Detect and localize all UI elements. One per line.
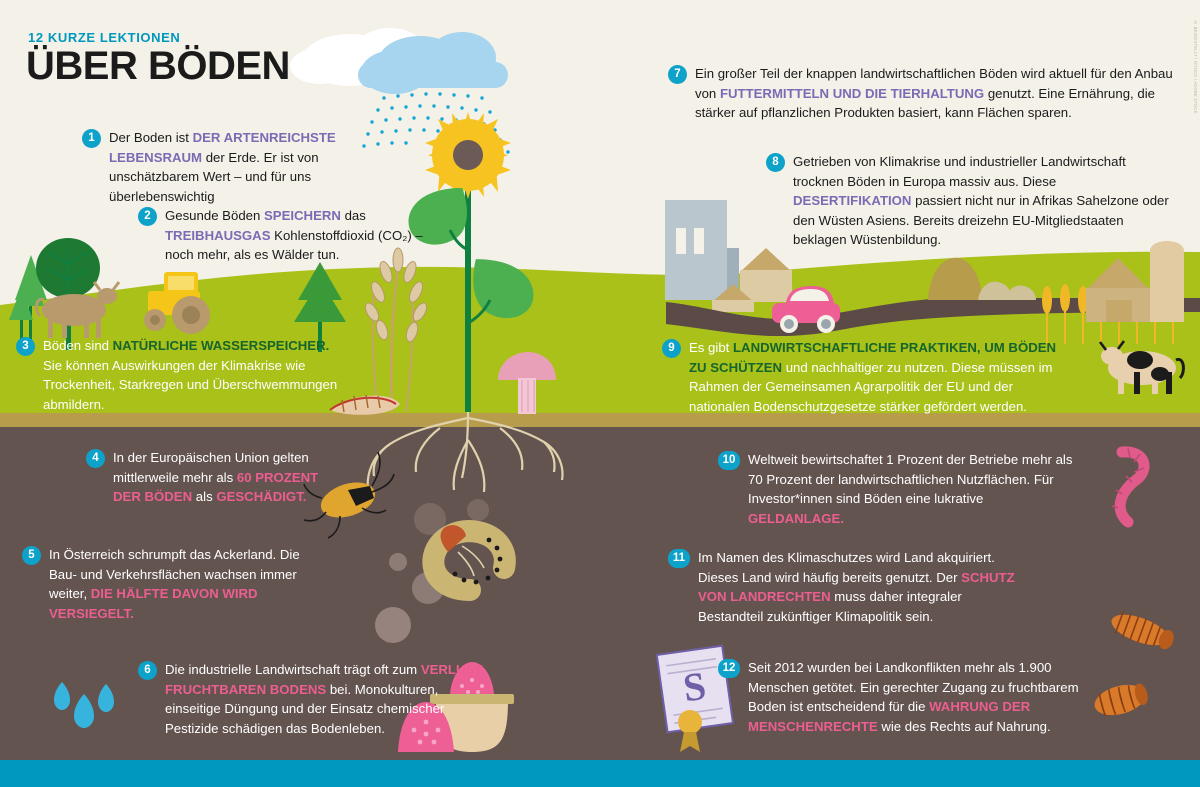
fact-text-1: Der Boden ist DER ARTENREICHSTE LEBENSRA…	[109, 128, 412, 206]
fact-number-badge-3: 3	[16, 337, 35, 356]
fact-text-3: Böden sind NATÜRLICHE WASSERSPEICHER. Si…	[43, 336, 346, 414]
fact-item-2: 2Gesunde Böden SPEICHERN das TREIBHAUSGA…	[138, 206, 428, 265]
fact-4-segment-3: GESCHÄDIGT.	[216, 489, 306, 504]
fact-item-9: 9Es gibt LANDWIRTSCHAFTLICHE PRAKTIKEN, …	[662, 338, 1074, 416]
fact-number-badge-2: 2	[138, 207, 157, 226]
fact-item-12: 12Seit 2012 wurden bei Landkonflikten me…	[718, 658, 1110, 736]
fact-1-segment-0: Der Boden ist	[109, 130, 193, 145]
fact-item-10: 10Weltweit bewirtschaftet 1 Prozent der …	[718, 450, 1078, 528]
fact-8-segment-1: DESERTIFIKATION	[793, 193, 911, 208]
fact-item-4: 4In der Europäischen Union gelten mittle…	[86, 448, 336, 507]
fact-number-badge-9: 9	[662, 339, 681, 358]
page-title: ÜBER BÖDEN	[26, 44, 290, 89]
fact-number-badge-6: 6	[138, 661, 157, 680]
fact-9-segment-0: Es gibt	[689, 340, 733, 355]
fact-text-8: Getrieben von Klimakrise und industriell…	[793, 152, 1178, 250]
fact-text-10: Weltweit bewirtschaftet 1 Prozent der Be…	[748, 450, 1078, 528]
fact-8-segment-0: Getrieben von Klimakrise und industriell…	[793, 154, 1126, 189]
infographic-canvas: S	[0, 0, 1200, 787]
fact-number-badge-1: 1	[82, 129, 101, 148]
fact-item-3: 3Böden sind NATÜRLICHE WASSERSPEICHER. S…	[16, 336, 346, 414]
mushroom-icon	[498, 352, 556, 414]
fact-10-segment-0: Weltweit bewirtschaftet 1 Prozent der Be…	[748, 452, 1072, 506]
fact-text-4: In der Europäischen Union gelten mittler…	[113, 448, 336, 507]
fact-2-segment-0: Gesunde Böden	[165, 208, 264, 223]
fact-2-segment-1: SPEICHERN	[264, 208, 341, 223]
fact-text-5: In Österreich schrumpft das Ackerland. D…	[49, 545, 302, 623]
fact-11-segment-0: Im Namen des Klimaschutzes wird Land akq…	[698, 550, 995, 585]
fact-4-segment-2: als	[192, 489, 216, 504]
fact-number-badge-10: 10	[718, 451, 740, 470]
fact-number-badge-5: 5	[22, 546, 41, 565]
fact-item-8: 8Getrieben von Klimakrise und industriel…	[766, 152, 1178, 250]
fact-number-badge-7: 7	[668, 65, 687, 84]
fact-text-9: Es gibt LANDWIRTSCHAFTLICHE PRAKTIKEN, U…	[689, 338, 1074, 416]
fact-number-badge-4: 4	[86, 449, 105, 468]
fact-2-segment-3: TREIBHAUSGAS	[165, 228, 271, 243]
fact-text-11: Im Namen des Klimaschutzes wird Land akq…	[698, 548, 1028, 626]
fact-item-6: 6Die industrielle Landwirtschaft trägt o…	[138, 660, 488, 738]
fact-3-segment-0: Böden sind	[43, 338, 113, 353]
fact-text-6: Die industrielle Landwirtschaft trägt of…	[165, 660, 488, 738]
fact-12-segment-2: wie des Rechts auf Nahrung.	[878, 719, 1051, 734]
header-kicker: 12 KURZE LEKTIONEN	[28, 30, 180, 45]
fact-10-segment-1: GELDANLAGE.	[748, 511, 844, 526]
footer-bar	[0, 760, 1200, 787]
fact-item-5: 5In Österreich schrumpft das Ackerland. …	[22, 545, 302, 623]
fact-7-segment-1: FUTTERMITTELN UND DIE TIERHALTUNG	[720, 86, 984, 101]
fact-text-2: Gesunde Böden SPEICHERN das TREIBHAUSGAS…	[165, 206, 428, 265]
fact-3-segment-1: NATÜRLICHE WASSERSPEICHER.	[113, 338, 330, 353]
fact-item-11: 11Im Namen des Klimaschutzes wird Land a…	[668, 548, 1028, 626]
fact-text-12: Seit 2012 wurden bei Landkonflikten mehr…	[748, 658, 1110, 736]
fact-number-badge-8: 8	[766, 153, 785, 172]
fact-2-segment-2: das	[341, 208, 366, 223]
fact-number-badge-12: 12	[718, 659, 740, 678]
fact-item-7: 7Ein großer Teil der knappen landwirtsch…	[668, 64, 1178, 123]
fact-6-segment-0: Die industrielle Landwirtschaft trägt of…	[165, 662, 421, 677]
fact-text-7: Ein großer Teil der knappen landwirtscha…	[695, 64, 1178, 123]
fact-number-badge-11: 11	[668, 549, 690, 568]
photo-credit: © BEIGESTELLT / ISTOCK / ADOBE STOCK	[1184, 20, 1198, 114]
dairy-cow-icon	[1100, 341, 1183, 394]
fact-item-1: 1Der Boden ist DER ARTENREICHSTE LEBENSR…	[82, 128, 412, 206]
fact-3-segment-2: Sie können Auswirkungen der Klimakrise w…	[43, 358, 337, 412]
